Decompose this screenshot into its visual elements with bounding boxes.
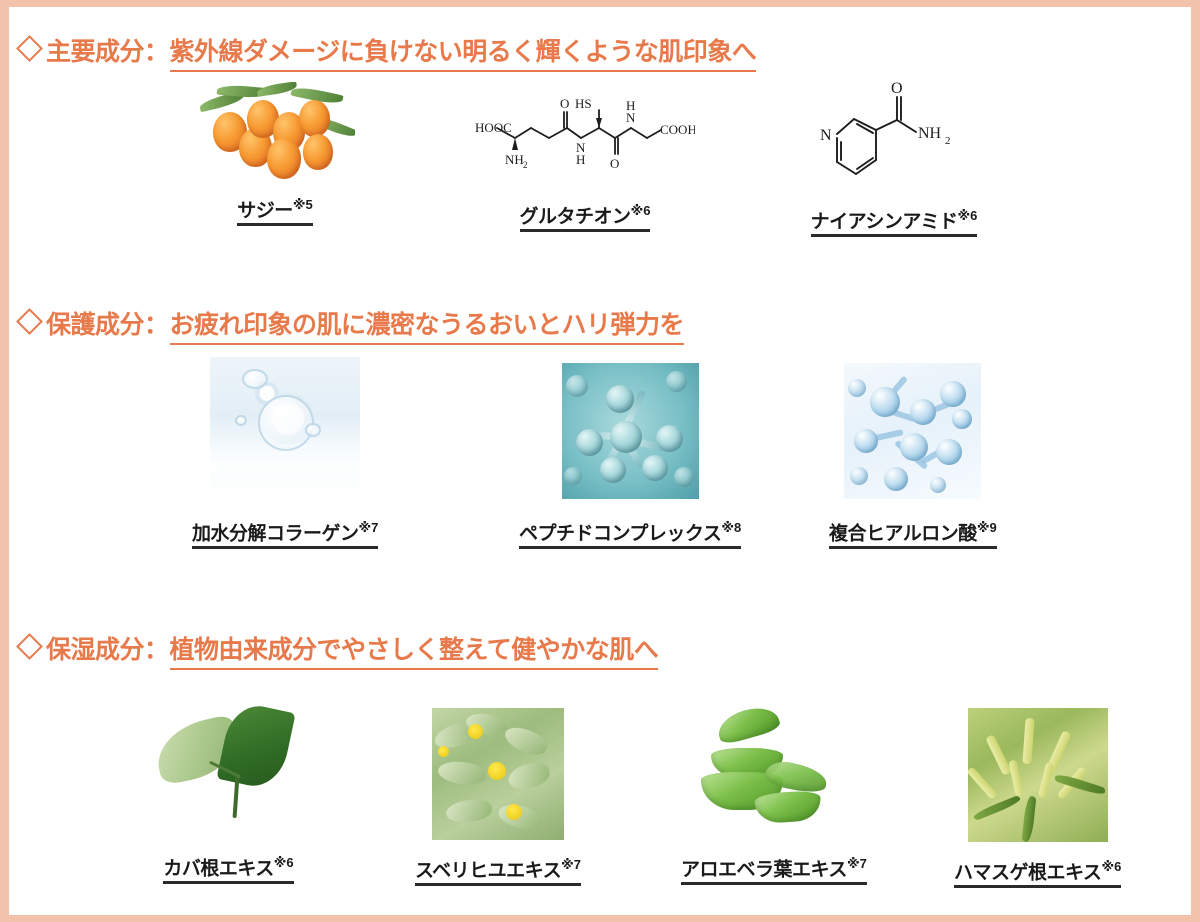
ingredient-label-hyaluronic: 複合ヒアルロン酸※9 [829,521,997,549]
chem-label-o1: O [560,96,569,111]
ingredient-label-niacinamide: ナイアシンアミド※6 [811,209,978,237]
ingredient-name: グルタチオン [520,206,631,227]
ingredient-name: スベリヒユエキス [415,860,561,881]
ingredient-label-glutathione: グルタチオン※6 [520,204,651,232]
ingredient-label-kava: カバ根エキス※6 [163,856,293,884]
diamond-outline-icon [16,308,43,335]
ingredient-label-aloe: アロエベラ葉エキス※7 [681,857,867,885]
section-heading-main-ingredients: 主要成分： 紫外線ダメージに負けない明るく輝くような肌印象へ [20,32,756,72]
section-heading-subtitle: お疲れ印象の肌に濃密なうるおいとハリ弾力を [170,305,685,345]
chem-label-h2: H [626,98,635,113]
ingredient-name: サジー [237,200,293,221]
chem-label-ring-n: N [820,127,832,144]
water-droplet-bubble-photo [210,357,360,497]
infographic-canvas: 主要成分： 紫外線ダメージに負けない明るく輝くような肌印象へ [9,7,1191,915]
teal-molecule-model-photo [562,363,699,499]
chem-label-o2: O [610,156,619,171]
chem-label-carbonyl-o: O [891,80,903,97]
blue-molecule-network-photo [844,363,981,499]
chem-label-hs: HS [575,96,592,111]
ingredient-card-purslane: スベリヒユエキス※7 [415,708,581,886]
chem-label-amide-sub: 2 [945,135,951,147]
section-main-ingredients: 主要成分： 紫外線ダメージに負けない明るく輝くような肌印象へ [20,32,756,72]
ingredient-name: ナイアシンアミド [811,211,958,232]
chem-label-h1: H [576,152,585,167]
glutathione-structure-diagram: HOOC NH 2 O HS N H O N H COOH [475,86,695,182]
ingredient-name: 複合ヒアルロン酸 [829,523,977,544]
ingredient-label-peptide: ペプチドコンプレックス※8 [519,521,741,549]
ingredient-name: 加水分解コラーゲン [192,523,359,544]
ingredient-name: アロエベラ葉エキス [681,859,847,880]
ingredient-note: ※6 [1101,859,1121,874]
ingredient-label-collagen: 加水分解コラーゲン※7 [192,521,378,549]
section-protective-ingredients: 保護成分： お疲れ印象の肌に濃密なうるおいとハリ弾力を [20,305,684,345]
ingredient-note: ※6 [958,208,978,223]
chem-label-nh2-sub: 2 [523,160,528,170]
chem-label-amide-nh2: NH [918,125,942,142]
section-heading-prefix: 保湿成分： [46,630,169,666]
ingredient-note: ※7 [359,520,379,535]
purslane-plant-photo [432,708,564,840]
section-heading-prefix: 主要成分： [46,32,169,68]
niacinamide-structure-diagram: N O NH 2 [794,72,994,187]
ingredient-card-aloe: アロエベラ葉エキス※7 [681,706,867,885]
nutgrass-sedge-photo [968,708,1108,842]
section-heading-moisturizing-ingredients: 保湿成分： 植物由来成分でやさしく整えて健やかな肌へ [20,630,658,670]
ingredient-name: カバ根エキス [163,858,273,879]
sea-buckthorn-berries-photo [195,82,355,182]
ingredient-label-nutgrass: ハマスゲ根エキス※6 [954,860,1121,888]
ingredient-note: ※5 [293,197,313,212]
niacinamide-svg: N O NH 2 [794,72,994,187]
section-heading-protective-ingredients: 保護成分： お疲れ印象の肌に濃密なうるおいとハリ弾力を [20,305,684,345]
ingredient-label-sajii: サジー※5 [237,198,312,226]
section-heading-subtitle: 紫外線ダメージに負けない明るく輝くような肌印象へ [170,32,757,72]
chem-label-hooc: HOOC [475,120,512,135]
ingredient-note: ※6 [274,855,294,870]
ingredient-card-kava: カバ根エキス※6 [146,702,311,884]
diamond-outline-icon [16,35,43,62]
ingredient-label-purslane: スベリヒユエキス※7 [415,858,581,886]
ingredient-note: ※7 [847,856,867,871]
ingredient-card-hyaluronic: 複合ヒアルロン酸※9 [829,363,997,549]
ingredient-note: ※9 [977,520,997,535]
ingredient-note: ※7 [561,857,581,872]
ingredient-card-peptide: ペプチドコンプレックス※8 [519,363,741,549]
section-heading-subtitle: 植物由来成分でやさしく整えて健やかな肌へ [170,630,659,670]
diamond-outline-icon [16,633,43,660]
section-heading-prefix: 保護成分： [46,305,169,341]
ingredient-card-glutathione: HOOC NH 2 O HS N H O N H COOH グルタチオン※6 [475,86,695,232]
section-moisturizing-ingredients: 保湿成分： 植物由来成分でやさしく整えて健やかな肌へ [20,630,658,670]
aloe-vera-slices-photo [691,706,856,841]
ingredient-name: ペプチドコンプレックス [519,523,721,544]
ingredient-note: ※6 [631,203,651,218]
ingredient-name: ハマスゲ根エキス [954,862,1101,883]
ingredient-card-sajii: サジー※5 [195,82,355,226]
ingredient-card-collagen: 加水分解コラーゲン※7 [192,357,378,549]
chem-label-cooh: COOH [660,122,695,137]
ingredient-card-nutgrass: ハマスゲ根エキス※6 [954,708,1121,888]
kava-leaves-photo [146,702,311,842]
ingredient-note: ※8 [721,520,741,535]
ingredient-card-niacinamide: N O NH 2 ナイアシンアミド※6 [794,72,994,237]
glutathione-svg: HOOC NH 2 O HS N H O N H COOH [475,86,695,182]
chem-label-nh2: NH [505,152,524,167]
